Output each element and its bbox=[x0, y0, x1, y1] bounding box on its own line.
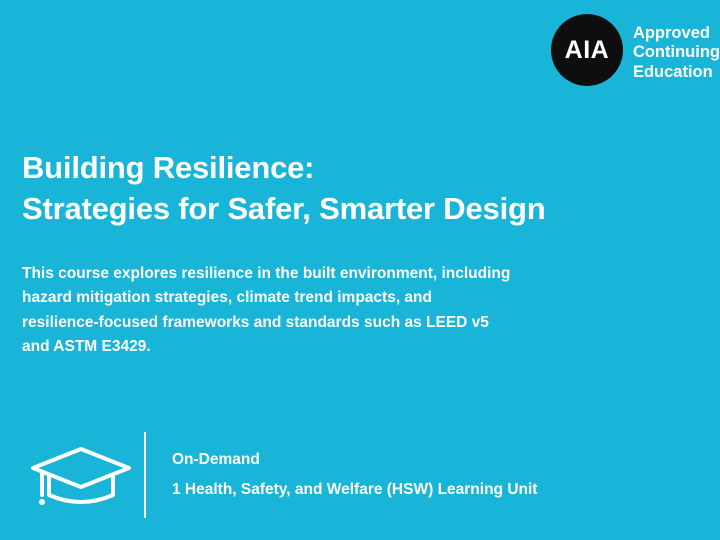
aia-badge-label: AIA bbox=[565, 38, 610, 63]
footer-text-block: On-Demand 1 Health, Safety, and Welfare … bbox=[172, 448, 537, 501]
description-line-2: hazard mitigation strategies, climate tr… bbox=[22, 286, 642, 310]
page-title: Building Resilience: Strategies for Safe… bbox=[22, 148, 662, 230]
aia-logo-text: Approved Continuing Education bbox=[633, 14, 720, 82]
course-description: This course explores resilience in the b… bbox=[22, 262, 642, 359]
aia-logo-line-2: Continuing bbox=[633, 43, 720, 62]
aia-logo-line-1: Approved bbox=[633, 24, 720, 43]
description-line-4: and ASTM E3429. bbox=[22, 335, 642, 359]
course-format: On-Demand bbox=[172, 448, 537, 472]
description-line-1: This course explores resilience in the b… bbox=[22, 262, 642, 286]
description-line-3: resilience-focused frameworks and standa… bbox=[22, 311, 642, 335]
aia-logo-line-3: Education bbox=[633, 63, 720, 82]
title-line-2: Strategies for Safer, Smarter Design bbox=[22, 189, 662, 230]
course-promo-slide: AIA Approved Continuing Education Buildi… bbox=[0, 0, 720, 540]
aia-approved-ce-logo: AIA Approved Continuing Education bbox=[551, 14, 720, 86]
course-credit: 1 Health, Safety, and Welfare (HSW) Lear… bbox=[172, 478, 537, 502]
footer-divider bbox=[144, 432, 146, 518]
aia-logo-icon: AIA bbox=[551, 14, 623, 86]
course-details-footer: On-Demand 1 Health, Safety, and Welfare … bbox=[22, 432, 712, 518]
graduation-cap-icon bbox=[22, 441, 140, 509]
title-line-1: Building Resilience: bbox=[22, 148, 662, 189]
